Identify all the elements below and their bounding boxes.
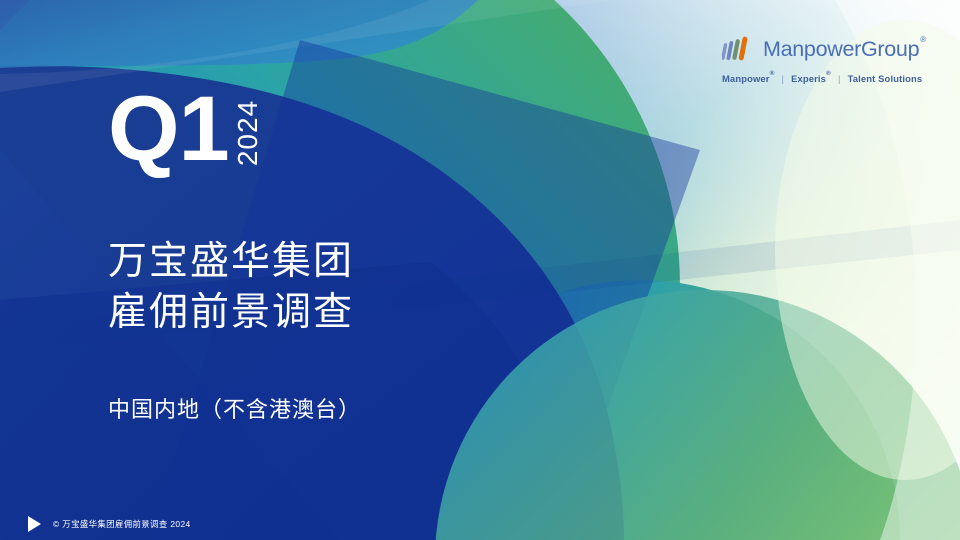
slide-footer: © 万宝盛华集团雇佣前景调查 2024 — [28, 516, 191, 532]
quarter-label: Q1 — [108, 86, 229, 173]
quarter-block: Q1 2024 — [108, 86, 265, 176]
brand-logo: ManpowerGroup® Manpower® | Experis® | Ta… — [722, 36, 932, 84]
logo-wordmark-text: ManpowerGroup — [763, 37, 919, 61]
brand-manpower-reg: ® — [770, 70, 775, 77]
footer-copyright: © 万宝盛华集团雇佣前景调查 2024 — [53, 518, 191, 530]
presentation-slide: Q1 2024 万宝盛华集团 雇佣前景调查 中国内地（不含港澳台） Manpow… — [0, 0, 960, 540]
quarter-year-wrap: 2024 — [231, 90, 265, 176]
logo-wordmark: ManpowerGroup® — [763, 37, 925, 62]
logo-tagline: Manpower® | Experis® | Talent Solutions — [722, 73, 932, 84]
quarter-year: 2024 — [232, 100, 264, 166]
page-title: 万宝盛华集团 雇佣前景调查 — [108, 236, 668, 339]
title-line-1: 万宝盛华集团 — [108, 236, 668, 287]
brand-experis: Experis® — [791, 73, 831, 84]
tagline-separator-1: | — [782, 73, 785, 84]
manpowergroup-mark-icon — [722, 36, 756, 62]
brand-manpower: Manpower® — [722, 73, 775, 84]
page-subtitle: 中国内地（不含港澳台） — [108, 392, 361, 424]
play-triangle-icon — [28, 516, 41, 532]
logo-row: ManpowerGroup® — [722, 36, 932, 62]
tagline-separator-2: | — [838, 73, 841, 84]
brand-experis-reg: ® — [826, 70, 831, 77]
title-line-2: 雇佣前景调查 — [108, 287, 668, 338]
brand-talent-solutions: Talent Solutions — [848, 73, 923, 84]
brand-experis-name: Experis — [791, 73, 826, 84]
logo-registered-mark: ® — [920, 35, 926, 44]
brand-manpower-name: Manpower — [722, 73, 770, 84]
